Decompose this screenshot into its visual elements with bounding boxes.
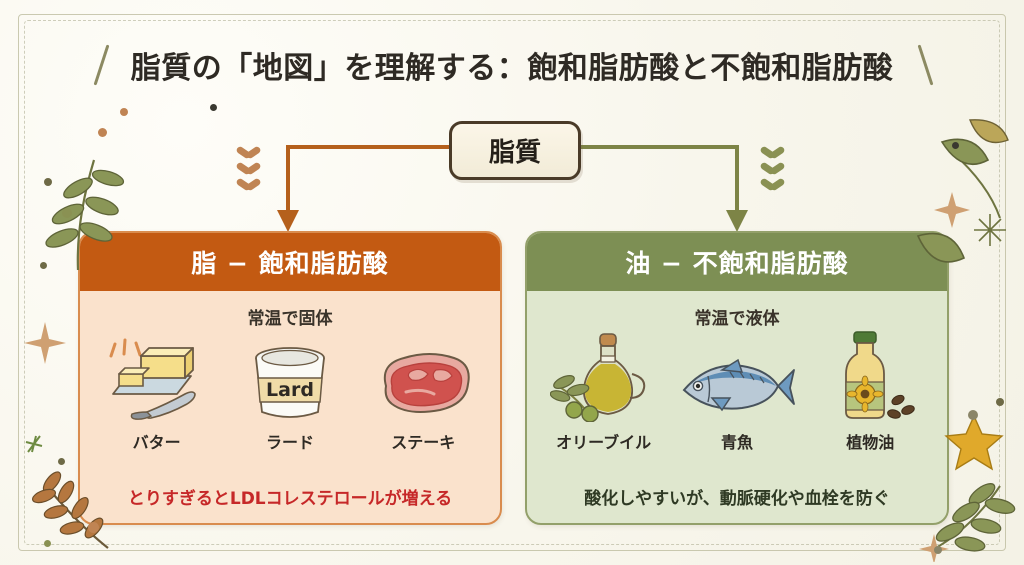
decor-dot	[934, 546, 942, 554]
infographic-canvas: 脂質の「地図」を理解する：飽和脂肪酸と不飽和脂肪酸 脂質 脂 − 飽和脂肪酸 常…	[0, 0, 1024, 565]
panel-note-unsaturated: 酸化しやすいが、動脈硬化や血栓を防ぐ	[527, 484, 947, 509]
page-title: 脂質の「地図」を理解する：飽和脂肪酸と不飽和脂肪酸	[131, 43, 894, 87]
blue-fish-icon	[678, 330, 796, 422]
decor-dot	[62, 208, 72, 218]
panel-subtitle-saturated: 常温で固体	[80, 304, 500, 329]
item-lard[interactable]: Lard ラード	[231, 330, 349, 453]
decor-dot	[120, 108, 128, 116]
decor-dot	[58, 458, 65, 465]
item-row-saturated: バター Lard ラード	[80, 335, 500, 453]
root-node-label: 脂質	[489, 132, 541, 169]
panel-header-saturated: 脂 − 飽和脂肪酸	[80, 233, 500, 291]
decor-dot	[40, 262, 47, 269]
chevron-stack-left-icon	[236, 148, 266, 196]
steak-icon	[364, 330, 482, 422]
decor-dot	[952, 142, 959, 149]
panel-header-label: 油 − 不飽和脂肪酸	[625, 244, 848, 280]
lard-label-text: Lard	[266, 379, 314, 401]
panel-saturated-fat[interactable]: 脂 − 飽和脂肪酸 常温で固体	[78, 231, 502, 525]
decor-dot	[88, 522, 99, 533]
decor-dot	[98, 128, 107, 137]
item-label: ステーキ	[364, 429, 482, 453]
decor-dot	[968, 410, 978, 420]
panel-header-label: 脂 − 飽和脂肪酸	[191, 244, 388, 280]
butter-dish-icon	[98, 330, 216, 422]
olive-oil-bottle-icon	[545, 330, 663, 422]
item-label: ラード	[231, 429, 349, 453]
item-label: 植物油	[811, 429, 929, 453]
item-row-unsaturated: オリーブイル	[527, 335, 947, 453]
chevron-stack-right-icon	[760, 148, 790, 196]
title-block: 脂質の「地図」を理解する：飽和脂肪酸と不飽和脂肪酸	[0, 34, 1024, 96]
decor-dot	[210, 104, 217, 111]
decor-dot	[44, 178, 52, 186]
panel-unsaturated-fat[interactable]: 油 − 不飽和脂肪酸 常温で液体	[525, 231, 949, 525]
decor-dot	[44, 540, 51, 547]
item-butter[interactable]: バター	[98, 330, 216, 453]
item-blue-fish[interactable]: 青魚	[678, 330, 796, 453]
item-steak[interactable]: ステーキ	[364, 330, 482, 453]
panel-header-unsaturated: 油 − 不飽和脂肪酸	[527, 233, 947, 291]
item-label: 青魚	[678, 429, 796, 453]
item-label: バター	[98, 429, 216, 453]
panel-subtitle-unsaturated: 常温で液体	[527, 304, 947, 329]
item-label: オリーブイル	[545, 429, 663, 453]
decor-dot	[996, 398, 1004, 406]
lard-tub-icon: Lard	[231, 330, 349, 422]
vegetable-oil-bottle-icon	[811, 330, 929, 422]
item-olive-oil[interactable]: オリーブイル	[545, 330, 663, 453]
title-slash-left-icon	[87, 42, 113, 88]
root-node-lipid[interactable]: 脂質	[449, 121, 581, 180]
item-vegetable-oil[interactable]: 植物油	[811, 330, 929, 453]
title-slash-right-icon	[911, 42, 937, 88]
panel-note-saturated: とりすぎるとLDLコレステロールが増える	[80, 484, 500, 509]
